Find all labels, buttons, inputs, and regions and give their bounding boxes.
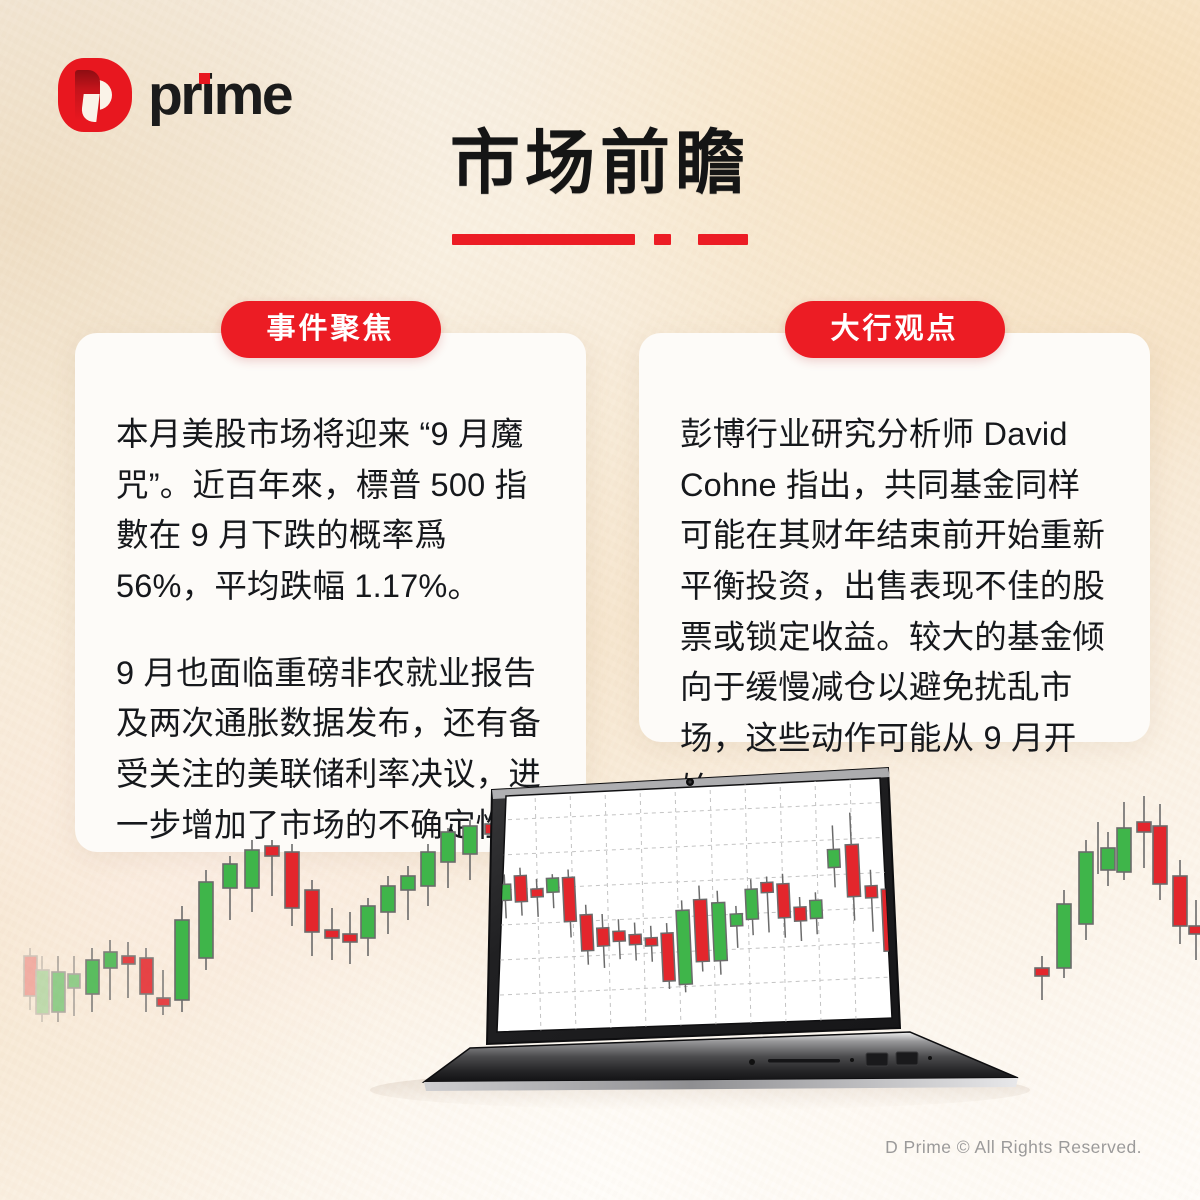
brand-wordmark: prime <box>148 67 291 124</box>
underline-segment-dot <box>654 234 671 245</box>
paragraph: 本月美股市场将迎来 “9 月魔咒”。近百年來，標普 500 指數在 9 月下跌的… <box>116 409 546 612</box>
page-title-block: 市场前瞻 <box>0 128 1200 245</box>
foreground-candlestick-series <box>1035 796 1200 1000</box>
underline-segment-long <box>452 234 635 245</box>
laptop-device <box>424 768 1018 1091</box>
background-candlestick-series <box>24 820 499 1022</box>
paragraph: 彭博行业研究分析师 David Cohne 指出，共同基金同样可能在其财年结束前… <box>680 409 1110 815</box>
title-underline-decoration <box>452 234 748 245</box>
footer-copyright: D Prime © All Rights Reserved. <box>885 1137 1142 1158</box>
poster-canvas: prime 市场前瞻 事件聚焦 本月美股市场将迎来 “9 月魔咒”。近百年來，標… <box>0 0 1200 1200</box>
card-body-analyst-view: 彭博行业研究分析师 David Cohne 指出，共同基金同样可能在其财年结束前… <box>639 333 1150 815</box>
card-analyst-view: 大行观点 彭博行业研究分析师 David Cohne 指出，共同基金同样可能在其… <box>639 333 1150 742</box>
underline-segment-short <box>698 234 748 245</box>
d-monogram-icon <box>58 58 132 132</box>
brand-wordmark-text: prime <box>148 63 291 127</box>
page-title: 市场前瞻 <box>0 128 1200 198</box>
card-badge-analyst-view: 大行观点 <box>784 301 1004 358</box>
laptop-candlestick-illustration <box>0 760 1200 1150</box>
wordmark-dot-icon <box>199 73 210 84</box>
card-badge-event-focus: 事件聚焦 <box>220 301 440 358</box>
brand-logo[interactable]: prime <box>58 58 291 132</box>
